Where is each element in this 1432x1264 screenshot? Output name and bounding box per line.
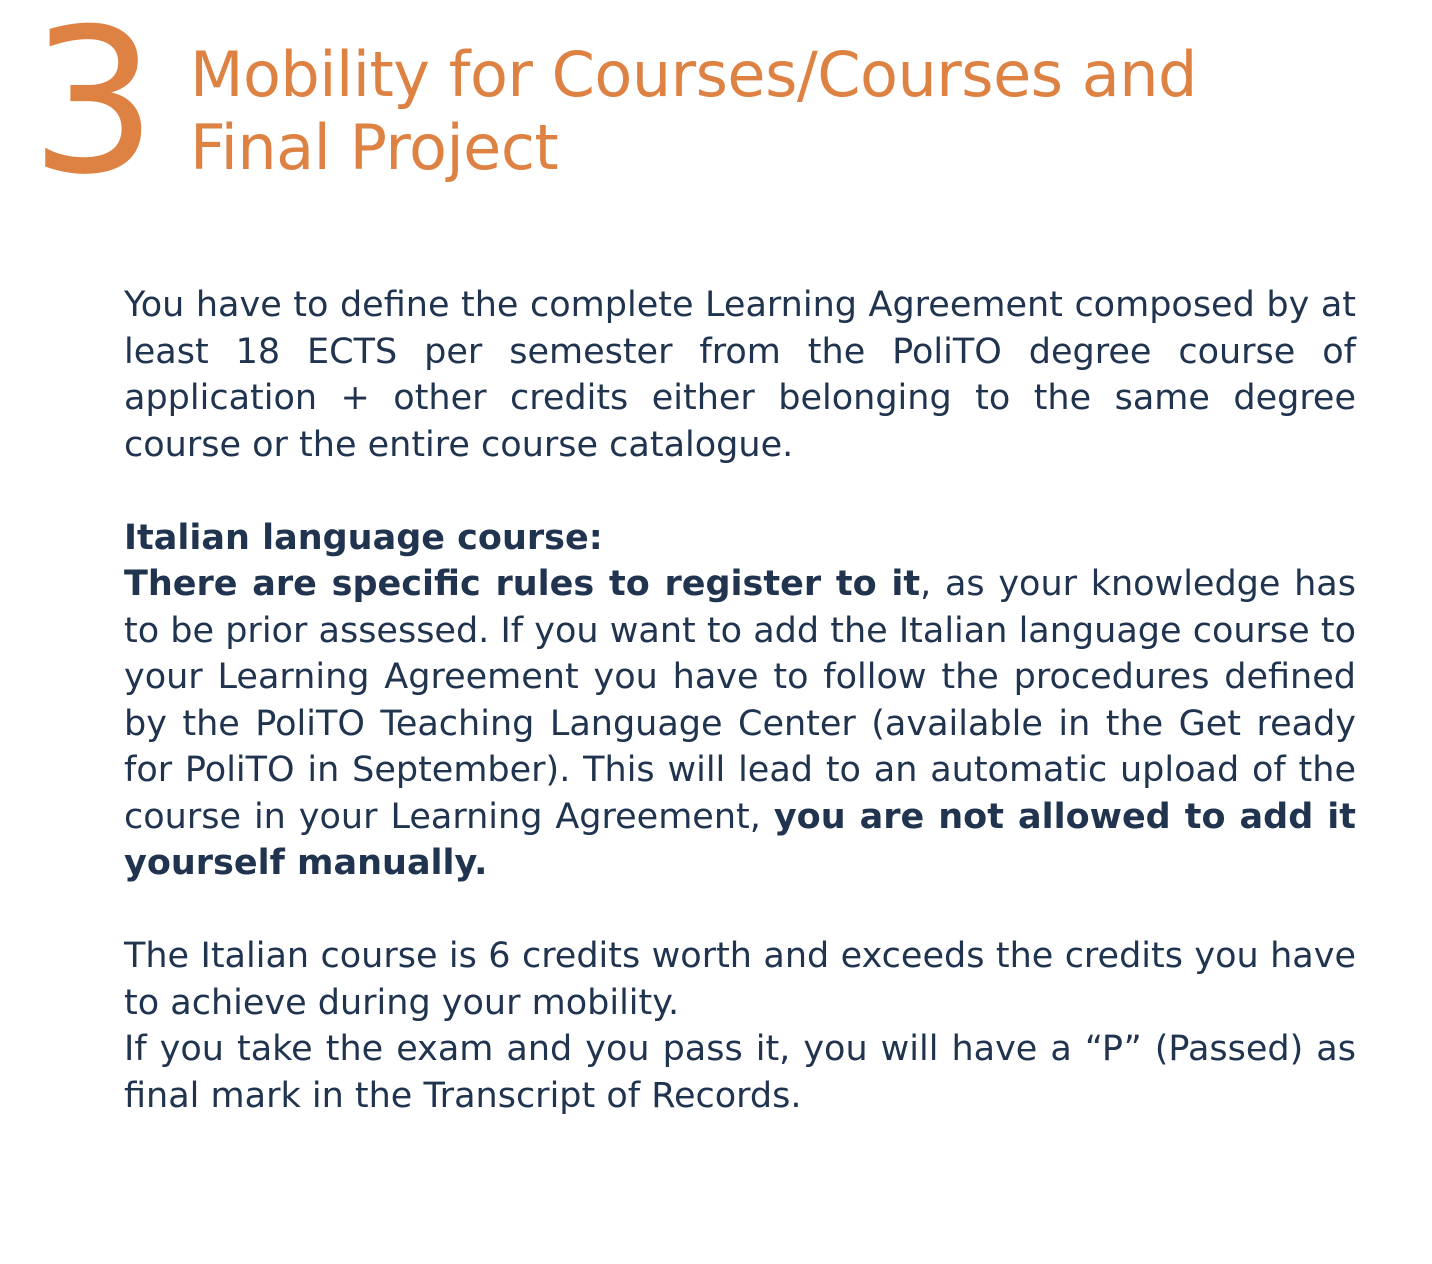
- page-title: Mobility for Courses/Courses and Final P…: [190, 26, 1197, 184]
- slide-header: 3 Mobility for Courses/Courses and Final…: [30, 26, 1370, 196]
- paragraph-italian-exam-mark: If you take the exam and you pass it, yo…: [124, 1026, 1356, 1119]
- page-title-line-2: Final Project: [190, 111, 1197, 184]
- paragraph-spacer-2: [124, 887, 1356, 934]
- italian-course-heading: Italian language course:: [124, 515, 1356, 562]
- slide-root: 3 Mobility for Courses/Courses and Final…: [0, 0, 1432, 1264]
- paragraph-italian-language-course: Italian language course:There are specif…: [124, 515, 1356, 887]
- section-number: 3: [30, 10, 190, 196]
- italian-course-bold-lead: There are specific rules to register to …: [124, 564, 920, 604]
- page-title-line-1: Mobility for Courses/Courses and: [190, 38, 1197, 111]
- slide-body: You have to define the complete Learning…: [124, 282, 1356, 1119]
- paragraph-italian-credits: The Italian course is 6 credits worth an…: [124, 933, 1356, 1026]
- paragraph-learning-agreement: You have to define the complete Learning…: [124, 282, 1356, 468]
- paragraph-spacer-1: [124, 468, 1356, 515]
